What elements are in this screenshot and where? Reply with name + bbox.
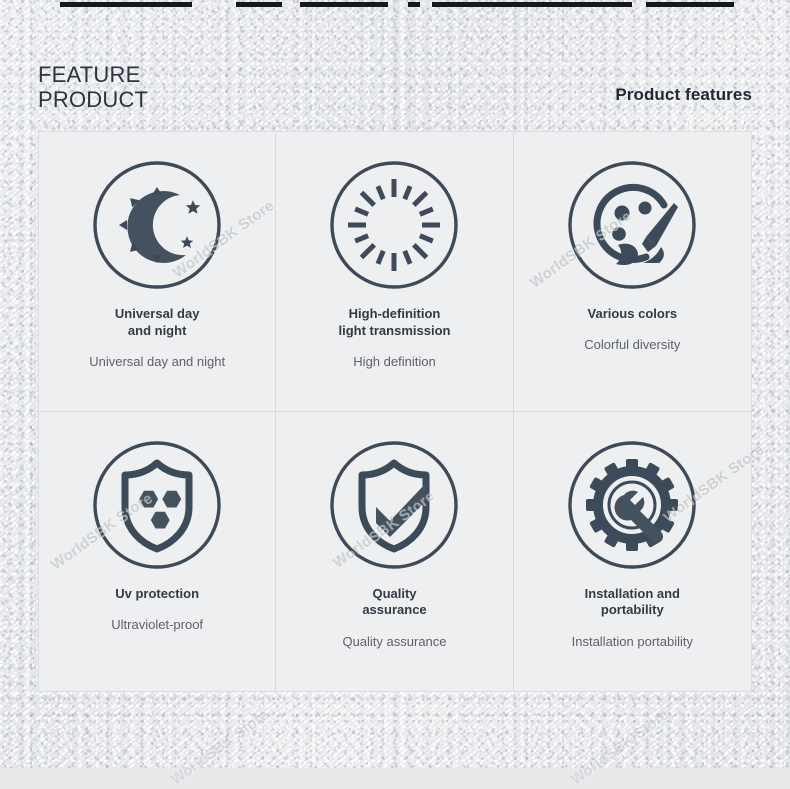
feature-subtitle: Installation portability — [572, 634, 693, 650]
feature-subtitle: Universal day and night — [89, 354, 225, 370]
palette-brush-icon — [557, 150, 707, 300]
feature-title: High-definition light transmission — [339, 306, 451, 340]
page-title: FEATURE PRODUCT — [38, 62, 148, 113]
feature-subtitle: Ultraviolet-proof — [111, 617, 203, 633]
feature-title: Quality assurance — [362, 586, 426, 620]
feature-title: Uv protection — [115, 586, 199, 603]
shield-check-icon — [319, 430, 469, 580]
feature-subtitle: High definition — [353, 354, 435, 370]
feature-grid: Universal day and night Universal day an… — [38, 131, 752, 692]
feature-card-high-definition[interactable]: High-definition light transmission High … — [276, 132, 513, 412]
day-night-icon — [82, 150, 232, 300]
shield-honeycomb-icon — [82, 430, 232, 580]
feature-title: Universal day and night — [115, 306, 200, 340]
feature-subtitle: Colorful diversity — [584, 337, 680, 353]
sun-rays-icon — [319, 150, 469, 300]
feature-card-day-night[interactable]: Universal day and night Universal day an… — [39, 132, 276, 412]
feature-subtitle: Quality assurance — [342, 634, 446, 650]
feature-title: Various colors — [588, 306, 678, 323]
feature-title: Installation and portability — [585, 586, 680, 620]
cropped-top-band — [0, 0, 790, 9]
section-label: Product features — [615, 85, 752, 105]
feature-card-quality-assurance[interactable]: Quality assurance Quality assurance — [276, 412, 513, 692]
gear-wrench-icon — [557, 430, 707, 580]
feature-card-various-colors[interactable]: Various colors Colorful diversity — [514, 132, 751, 412]
feature-card-installation[interactable]: Installation and portability Installatio… — [514, 412, 751, 692]
feature-card-uv-protection[interactable]: Uv protection Ultraviolet-proof — [39, 412, 276, 692]
